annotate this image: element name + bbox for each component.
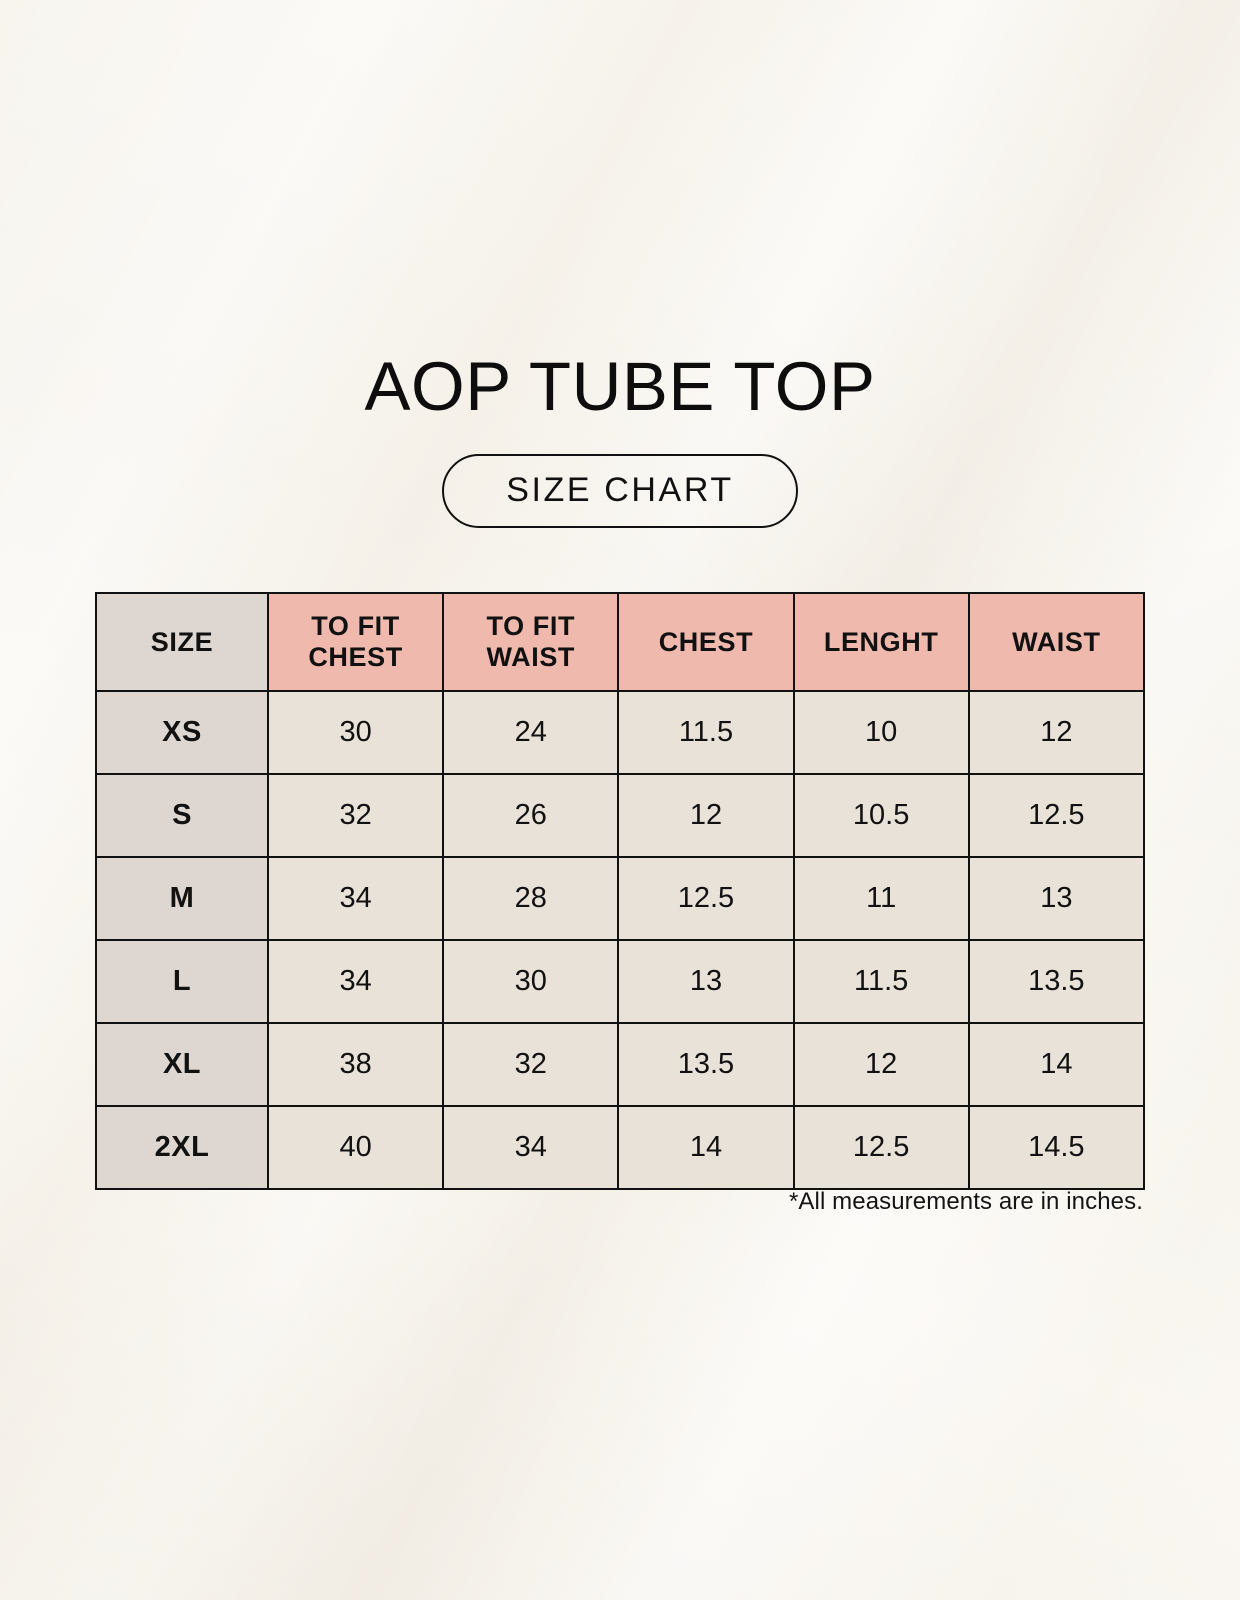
table-header: SIZE TO FIT CHEST TO FIT WAIST CHEST LEN (96, 593, 1144, 691)
cell-lenght: 11 (794, 857, 969, 940)
table-body: XS 30 24 11.5 10 12 S 32 26 12 10.5 12.5… (96, 691, 1144, 1189)
size-chart-badge: SIZE CHART (442, 454, 798, 528)
cell-to-fit-chest: 34 (268, 857, 443, 940)
column-header-to-fit-waist: TO FIT WAIST (443, 593, 618, 691)
table-row: XL 38 32 13.5 12 14 (96, 1023, 1144, 1106)
cell-to-fit-chest: 30 (268, 691, 443, 774)
size-chart-table-container: SIZE TO FIT CHEST TO FIT WAIST CHEST LEN (95, 592, 1143, 1190)
cell-size: XS (96, 691, 268, 774)
cell-lenght: 12.5 (794, 1106, 969, 1189)
cell-waist: 13 (969, 857, 1144, 940)
cell-chest: 13 (618, 940, 793, 1023)
cell-to-fit-waist: 30 (443, 940, 618, 1023)
table-row: S 32 26 12 10.5 12.5 (96, 774, 1144, 857)
cell-waist: 12 (969, 691, 1144, 774)
cell-to-fit-chest: 40 (268, 1106, 443, 1189)
column-header-lenght: LENGHT (794, 593, 969, 691)
table-row: XS 30 24 11.5 10 12 (96, 691, 1144, 774)
cell-size: M (96, 857, 268, 940)
cell-to-fit-chest: 32 (268, 774, 443, 857)
cell-to-fit-waist: 34 (443, 1106, 618, 1189)
cell-lenght: 10 (794, 691, 969, 774)
size-chart-table: SIZE TO FIT CHEST TO FIT WAIST CHEST LEN (95, 592, 1145, 1190)
column-header-chest-line1: CHEST (619, 627, 792, 658)
table-row: 2XL 40 34 14 12.5 14.5 (96, 1106, 1144, 1189)
cell-size: L (96, 940, 268, 1023)
cell-chest: 11.5 (618, 691, 793, 774)
column-header-waist-line1: WAIST (970, 627, 1143, 658)
cell-waist: 13.5 (969, 940, 1144, 1023)
cell-lenght: 12 (794, 1023, 969, 1106)
column-header-waist: WAIST (969, 593, 1144, 691)
column-header-to-fit-chest: TO FIT CHEST (268, 593, 443, 691)
cell-to-fit-waist: 28 (443, 857, 618, 940)
table-row: M 34 28 12.5 11 13 (96, 857, 1144, 940)
column-header-size-line1: SIZE (97, 627, 267, 658)
measurements-footnote: *All measurements are in inches. (95, 1188, 1143, 1216)
column-header-size: SIZE (96, 593, 268, 691)
cell-to-fit-chest: 34 (268, 940, 443, 1023)
column-header-to-fit-chest-line1: TO FIT (269, 611, 442, 642)
heading-block: AOP TUBE TOP SIZE CHART (0, 352, 1240, 528)
cell-to-fit-chest: 38 (268, 1023, 443, 1106)
cell-waist: 12.5 (969, 774, 1144, 857)
cell-size: S (96, 774, 268, 857)
cell-waist: 14 (969, 1023, 1144, 1106)
cell-to-fit-waist: 32 (443, 1023, 618, 1106)
cell-waist: 14.5 (969, 1106, 1144, 1189)
column-header-lenght-line1: LENGHT (795, 627, 968, 658)
cell-lenght: 10.5 (794, 774, 969, 857)
column-header-to-fit-waist-line2: WAIST (444, 642, 617, 673)
cell-size: XL (96, 1023, 268, 1106)
table-row: L 34 30 13 11.5 13.5 (96, 940, 1144, 1023)
size-chart-page: AOP TUBE TOP SIZE CHART SIZE TO FIT (0, 0, 1240, 1600)
cell-to-fit-waist: 26 (443, 774, 618, 857)
column-header-chest: CHEST (618, 593, 793, 691)
cell-chest: 12 (618, 774, 793, 857)
column-header-to-fit-chest-line2: CHEST (269, 642, 442, 673)
cell-to-fit-waist: 24 (443, 691, 618, 774)
column-header-to-fit-waist-line1: TO FIT (444, 611, 617, 642)
cell-size: 2XL (96, 1106, 268, 1189)
table-header-row: SIZE TO FIT CHEST TO FIT WAIST CHEST LEN (96, 593, 1144, 691)
page-title: AOP TUBE TOP (0, 352, 1240, 421)
cell-chest: 14 (618, 1106, 793, 1189)
cell-chest: 12.5 (618, 857, 793, 940)
cell-lenght: 11.5 (794, 940, 969, 1023)
cell-chest: 13.5 (618, 1023, 793, 1106)
